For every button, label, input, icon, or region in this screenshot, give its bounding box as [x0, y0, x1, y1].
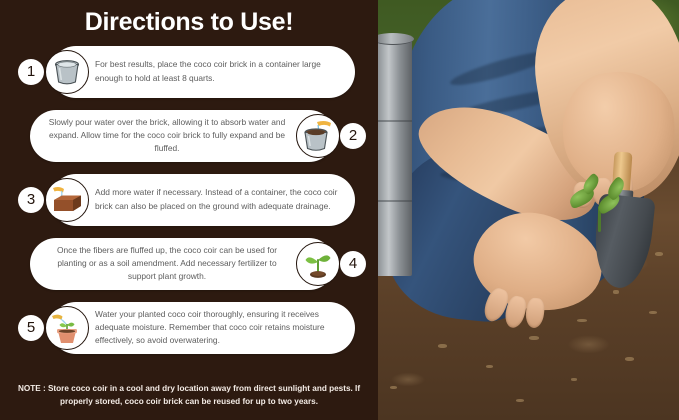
step-item-4: 4 Once the fibers are fluffed up, the co…: [0, 236, 378, 292]
step-text-2: Slowly pour water over the brick, allowi…: [30, 116, 296, 155]
step-item-3: 3 Add more water if necessary. Instead o…: [0, 172, 378, 228]
note-label: NOTE :: [18, 384, 48, 393]
step-text-5: Water your planted coco coir thoroughly,…: [89, 308, 355, 347]
step-card-3: Add more water if necessary. Instead of …: [50, 174, 355, 226]
step-number-badge-5: 5: [18, 315, 44, 341]
step-text-3: Add more water if necessary. Instead of …: [89, 186, 355, 212]
metal-bucket: [378, 36, 412, 276]
gardening-photo: [378, 0, 679, 420]
bucket-icon: [45, 50, 89, 94]
potted-plant-watering-icon: [45, 306, 89, 350]
infographic-page: Directions to Use! 1 For best results, p…: [0, 0, 679, 420]
step-card-2: Slowly pour water over the brick, allowi…: [30, 110, 335, 162]
note-body: Store coco coir in a cool and dry locati…: [48, 384, 360, 406]
step-number-badge-2: 2: [340, 123, 366, 149]
page-title: Directions to Use!: [0, 0, 378, 37]
instructions-panel: Directions to Use! 1 For best results, p…: [0, 0, 378, 420]
step-card-4: Once the fibers are fluffed up, the coco…: [30, 238, 335, 290]
note-text: NOTE : Store coco coir in a cool and dry…: [0, 382, 378, 408]
steps-list: 1 For best results, place the coco coir …: [0, 44, 378, 356]
step-card-1: For best results, place the coco coir br…: [50, 46, 355, 98]
step-item-5: 5: [0, 300, 378, 356]
step-number-badge-1: 1: [18, 59, 44, 85]
step-card-5: Water your planted coco coir thoroughly,…: [50, 302, 355, 354]
coir-brick-watering-icon: [45, 178, 89, 222]
photo-scene: [378, 0, 679, 420]
step-number-badge-3: 3: [18, 187, 44, 213]
step-text-1: For best results, place the coco coir br…: [89, 58, 355, 84]
step-number-badge-4: 4: [340, 251, 366, 277]
seedling-sprout-icon: [296, 242, 340, 286]
step-text-4: Once the fibers are fluffed up, the coco…: [30, 244, 296, 283]
bucket-with-water-icon: [296, 114, 340, 158]
step-item-2: 2 Slowly pour water over the brick, allo…: [0, 108, 378, 164]
step-item-1: 1 For best results, place the coco coir …: [0, 44, 378, 100]
